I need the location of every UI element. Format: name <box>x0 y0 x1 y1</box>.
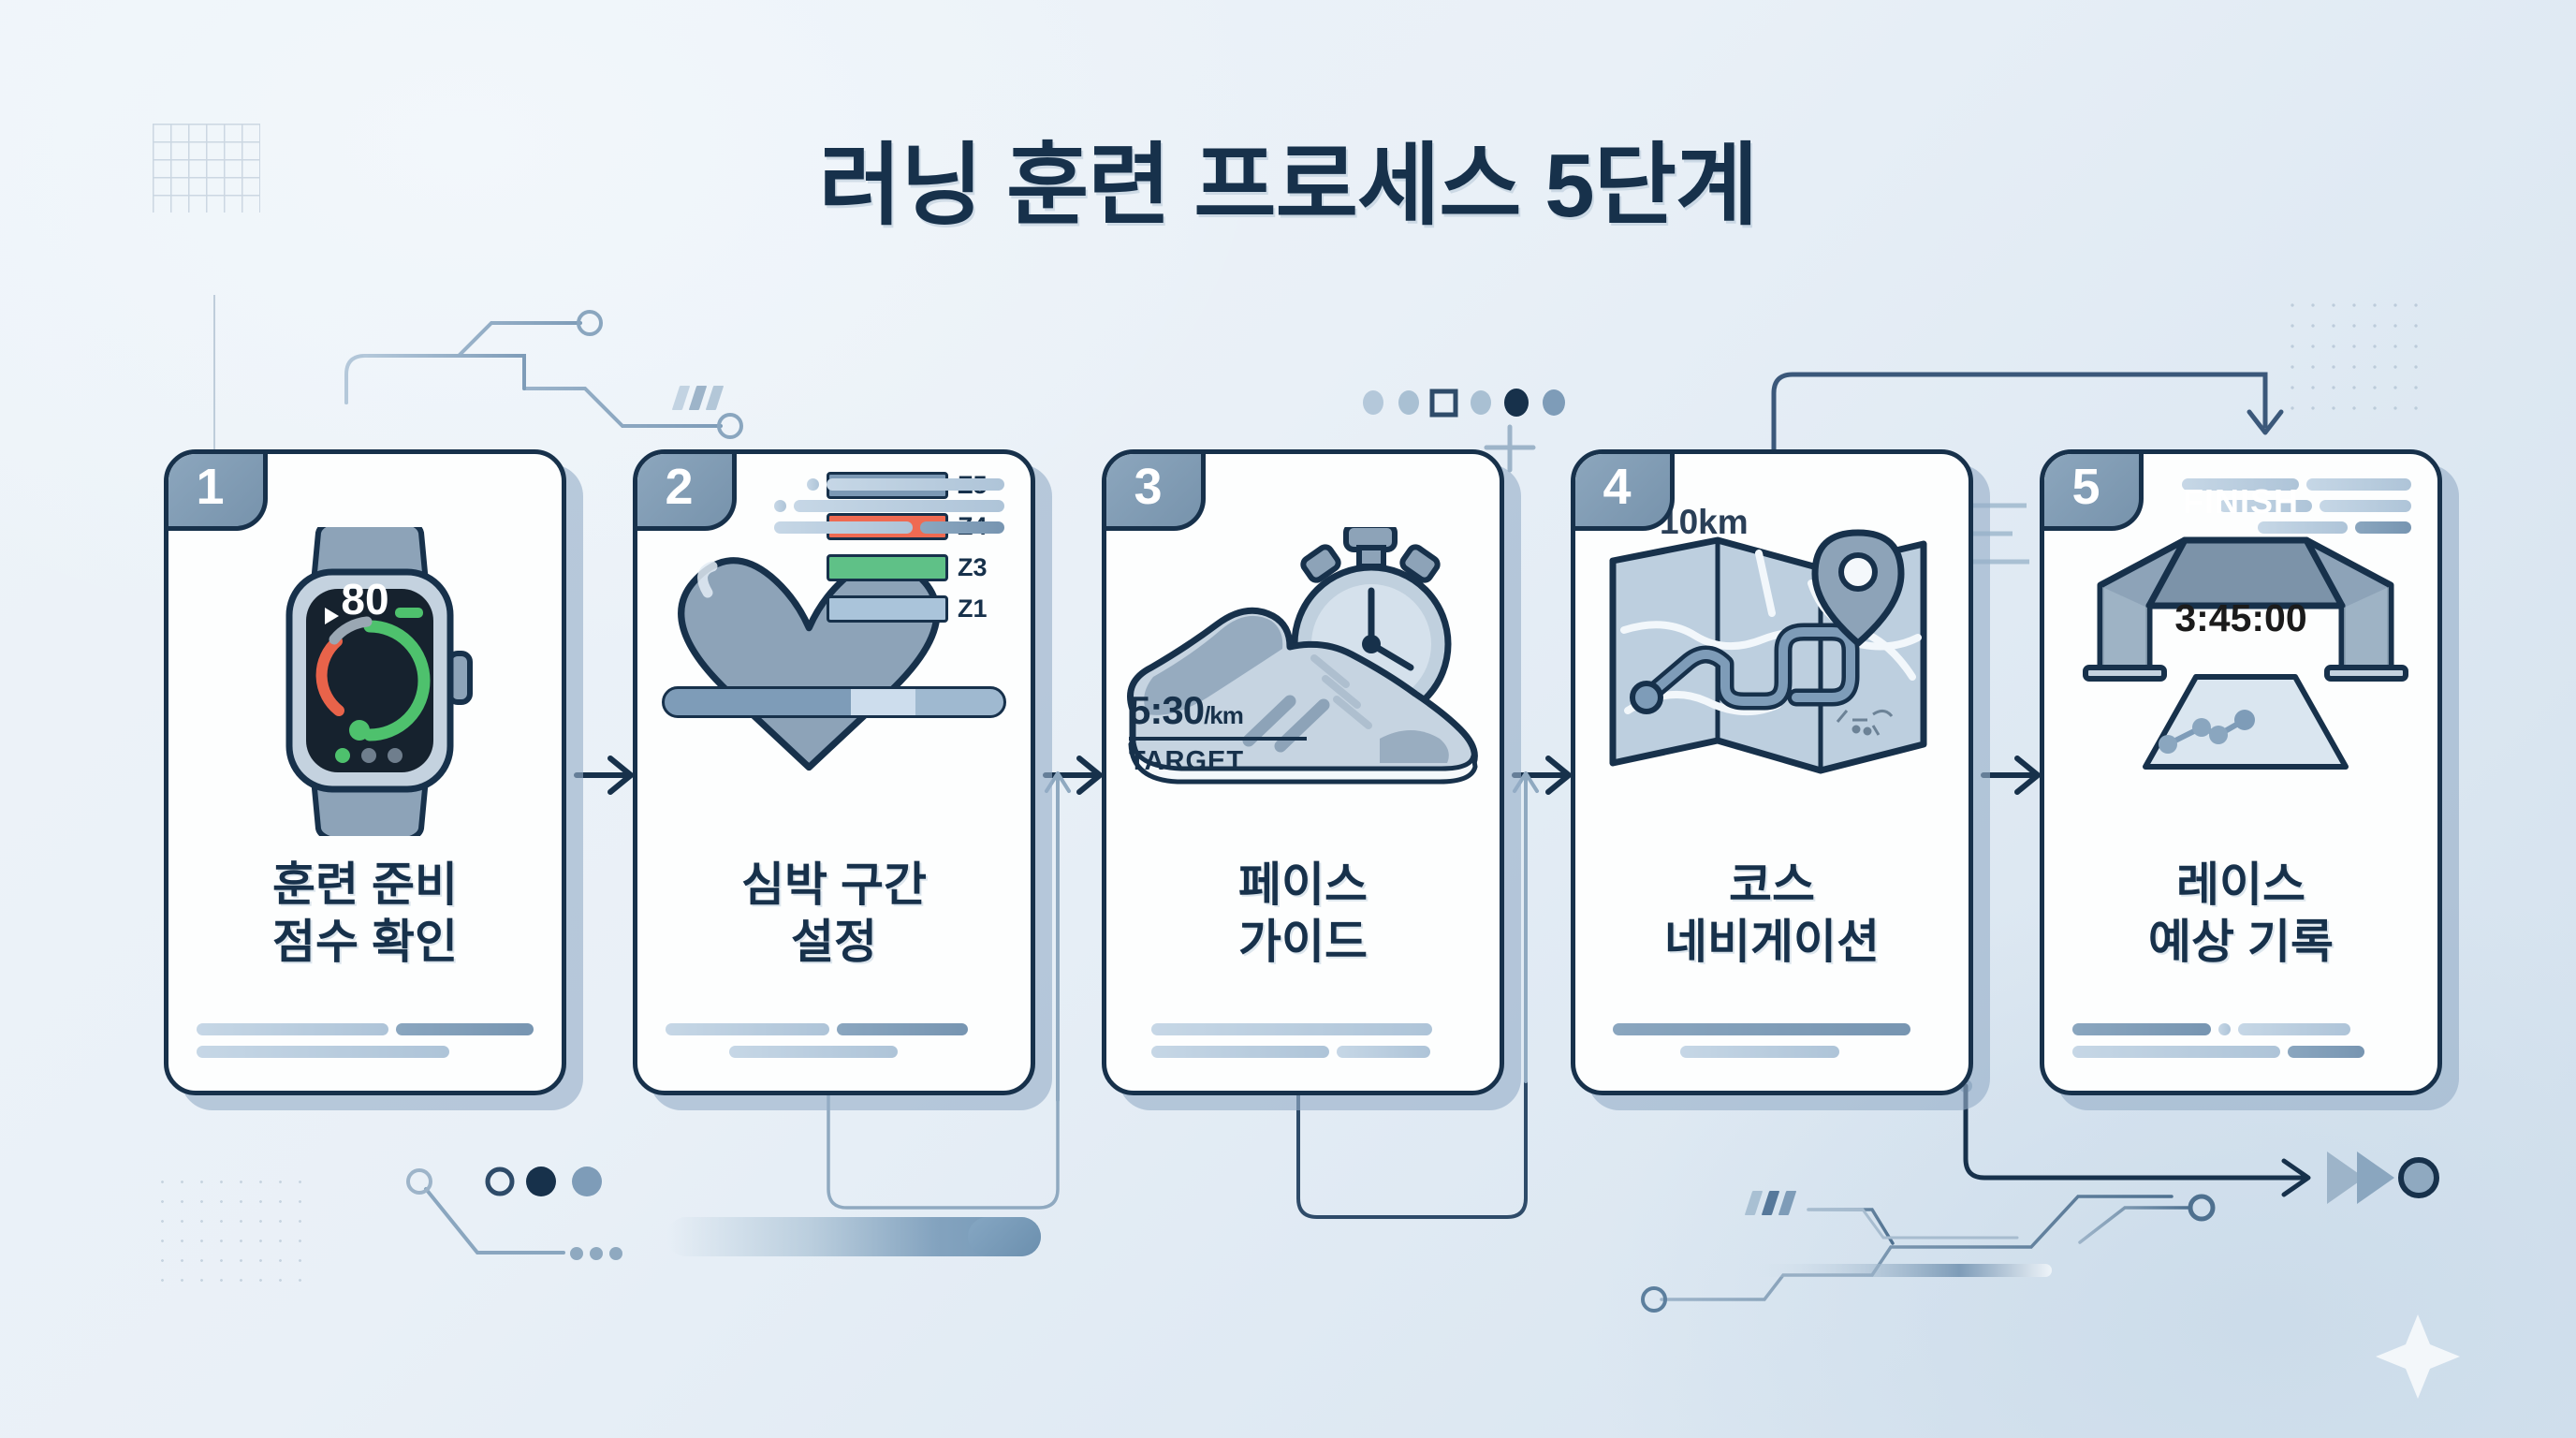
step-label-3: 페이스 가이드 <box>1106 857 1500 971</box>
step-label-4: 코스 네비게이션 <box>1575 857 1969 971</box>
step-label-1: 훈련 준비 점수 확인 <box>168 857 562 971</box>
step-card-2[interactable]: 2 Z5 Z4 Z3 Z1 심박 구간 설정 <box>633 449 1035 1095</box>
step-label-line1: 심박 구간 <box>637 857 1031 914</box>
skeleton-lines-bottom-5 <box>2072 1023 2409 1068</box>
zone-row: Z1 <box>827 594 1010 624</box>
zone-row: Z3 <box>827 553 1010 582</box>
zone-label: Z3 <box>958 553 988 582</box>
skeleton-lines-bottom-3 <box>1134 1023 1471 1068</box>
step-card-3[interactable]: 3 <box>1102 449 1504 1095</box>
target-pace-caption: TARGET <box>1129 746 1307 777</box>
zone-label: Z1 <box>958 594 988 624</box>
step-label-5: 레이스 예상 기록 <box>2044 857 2437 971</box>
target-pace-value: 5:30/km <box>1129 688 1307 733</box>
zone-bar <box>827 595 948 623</box>
pace-underline <box>1129 737 1307 741</box>
skeleton-lines-bottom-4 <box>1603 1023 1940 1068</box>
zone-intensity-slider[interactable] <box>662 686 1006 718</box>
running-shoe-stopwatch-icon <box>1106 527 1500 836</box>
readiness-score-value: 80 <box>168 574 562 624</box>
step-number-badge-1: 1 <box>165 450 268 531</box>
step-card-4[interactable]: 4 <box>1571 449 1973 1095</box>
step-label-line2: 설정 <box>637 914 1031 971</box>
step-label-line1: 페이스 <box>1106 857 1500 914</box>
step-card-1[interactable]: 1 <box>164 449 566 1095</box>
skeleton-lines-bottom-2 <box>666 1023 1003 1068</box>
step-number-badge-3: 3 <box>1103 450 1206 531</box>
step-label-line2: 가이드 <box>1106 914 1500 971</box>
steps-row: 1 <box>0 449 2576 1105</box>
step-label-line1: 훈련 준비 <box>168 857 562 914</box>
skeleton-lines-top-2 <box>770 478 1004 543</box>
step-card-5[interactable]: 5 FINISH 3: <box>2040 449 2442 1095</box>
step-number-badge-4: 4 <box>1572 450 1675 531</box>
finish-arch-chart-icon <box>2044 527 2437 836</box>
step-label-line2: 예상 기록 <box>2044 914 2437 971</box>
predicted-finish-time: 3:45:00 <box>2044 596 2437 640</box>
route-map-pin-icon <box>1575 527 1969 836</box>
step-label-line2: 점수 확인 <box>168 914 562 971</box>
target-pace-block: 5:30/km TARGET <box>1129 688 1307 777</box>
step-label-line1: 레이스 <box>2044 857 2437 914</box>
step-number-badge-2: 2 <box>634 450 737 531</box>
step-label-line2: 네비게이션 <box>1575 914 1969 971</box>
step-label-line1: 코스 <box>1575 857 1969 914</box>
skeleton-lines-bottom-1 <box>197 1023 534 1068</box>
step-number-badge-5: 5 <box>2041 450 2144 531</box>
step-label-2: 심박 구간 설정 <box>637 857 1031 971</box>
zone-bar <box>827 554 948 581</box>
